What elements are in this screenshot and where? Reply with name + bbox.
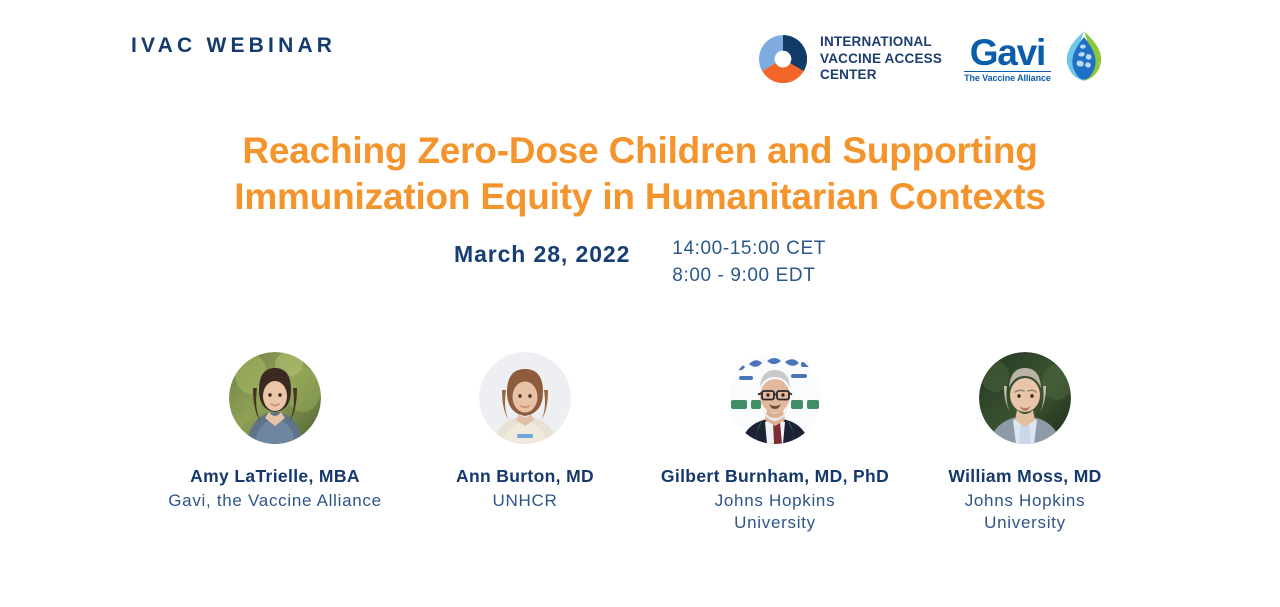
speaker-name: William Moss, MD bbox=[948, 466, 1101, 487]
logo-row: INTERNATIONAL VACCINE ACCESS CENTER Gavi… bbox=[757, 28, 1113, 90]
speakers-row: Amy LaTrielle, MBA Gavi, the Vaccine All… bbox=[150, 352, 1150, 535]
event-date: March 28, 2022 bbox=[454, 236, 630, 268]
speaker-affiliation-line-2: University bbox=[965, 512, 1086, 534]
speaker-name: Gilbert Burnham, MD, PhD bbox=[661, 466, 889, 487]
speaker-card: Amy LaTrielle, MBA Gavi, the Vaccine All… bbox=[150, 352, 400, 512]
speaker-affiliation-line-1: Gavi, the Vaccine Alliance bbox=[168, 490, 382, 512]
gavi-droplet-globe-icon bbox=[1055, 28, 1113, 90]
speaker-name: Amy LaTrielle, MBA bbox=[190, 466, 360, 487]
speaker-affiliation: UNHCR bbox=[493, 490, 558, 512]
gavi-logo-name: Gavi bbox=[970, 35, 1045, 70]
event-time-cet: 14:00-15:00 CET bbox=[672, 236, 826, 263]
gavi-tagline-rule: The Vaccine Alliance bbox=[964, 71, 1051, 83]
event-datetime: March 28, 2022 14:00-15:00 CET 8:00 - 9:… bbox=[0, 236, 1280, 290]
speaker-affiliation: Gavi, the Vaccine Alliance bbox=[168, 490, 382, 512]
gavi-logo: Gavi The Vaccine Alliance bbox=[964, 28, 1113, 90]
speaker-card: Ann Burton, MD UNHCR bbox=[400, 352, 650, 512]
ivac-logo-text: INTERNATIONAL VACCINE ACCESS CENTER bbox=[820, 34, 942, 83]
event-times: 14:00-15:00 CET 8:00 - 9:00 EDT bbox=[672, 236, 826, 290]
speaker-affiliation: Johns Hopkins University bbox=[965, 490, 1086, 535]
speaker-name: Ann Burton, MD bbox=[456, 466, 594, 487]
page-eyebrow-ivac-webinar: IVAC WEBINAR bbox=[131, 34, 336, 58]
ivac-swirl-logo-icon bbox=[757, 33, 809, 85]
speaker-affiliation-line-1: UNHCR bbox=[493, 490, 558, 512]
speaker-card: William Moss, MD Johns Hopkins Universit… bbox=[900, 352, 1150, 535]
ivac-logo-line-1: INTERNATIONAL bbox=[820, 34, 942, 50]
speaker-affiliation-line-1: Johns Hopkins bbox=[965, 490, 1086, 512]
ivac-logo-line-3: CENTER bbox=[820, 67, 942, 83]
photo-ann-burton bbox=[479, 352, 571, 444]
event-time-edt: 8:00 - 9:00 EDT bbox=[672, 263, 826, 290]
speaker-affiliation-line-1: Johns Hopkins bbox=[715, 490, 836, 512]
ivac-logo: INTERNATIONAL VACCINE ACCESS CENTER bbox=[757, 33, 942, 85]
speaker-affiliation: Johns Hopkins University bbox=[715, 490, 836, 535]
photo-gilbert-burnham bbox=[729, 352, 821, 444]
webinar-title-line-2: Immunization Equity in Humanitarian Cont… bbox=[0, 174, 1280, 220]
speaker-card: Gilbert Burnham, MD, PhD Johns Hopkins U… bbox=[650, 352, 900, 535]
gavi-wordmark: Gavi The Vaccine Alliance bbox=[964, 35, 1051, 83]
photo-william-moss bbox=[979, 352, 1071, 444]
gavi-logo-tagline: The Vaccine Alliance bbox=[964, 73, 1051, 83]
photo-amy-latrielle bbox=[229, 352, 321, 444]
speaker-affiliation-line-2: University bbox=[715, 512, 836, 534]
ivac-logo-line-2: VACCINE ACCESS bbox=[820, 51, 942, 67]
webinar-title-line-1: Reaching Zero-Dose Children and Supporti… bbox=[0, 128, 1280, 174]
webinar-title: Reaching Zero-Dose Children and Supporti… bbox=[0, 128, 1280, 221]
